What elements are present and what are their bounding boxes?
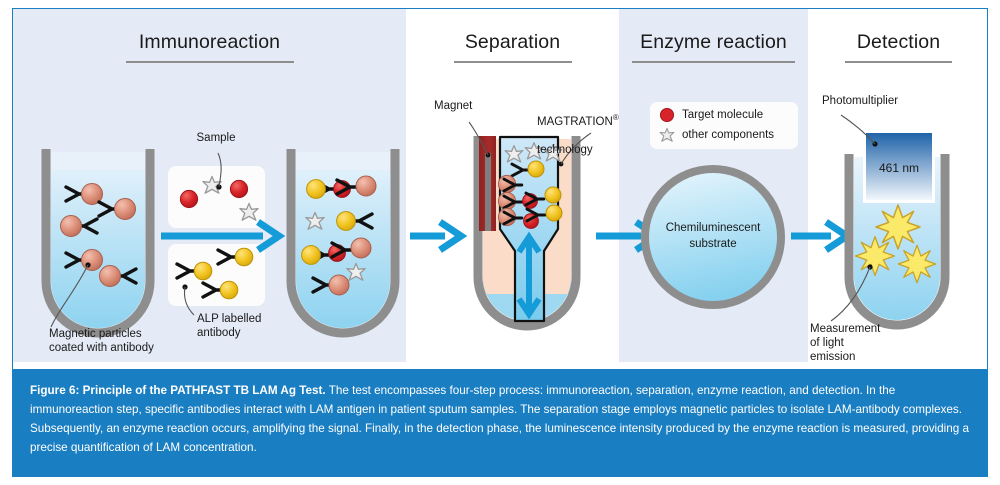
tube-2 bbox=[291, 149, 395, 333]
caption-gap bbox=[13, 362, 987, 369]
legend-item-other-components: other components bbox=[659, 127, 774, 143]
alp-box bbox=[168, 244, 265, 315]
registered-trademark-icon: ® bbox=[613, 113, 619, 122]
label-chemiluminescent-substrate: Chemiluminescent substrate bbox=[653, 221, 773, 252]
detection-tube bbox=[831, 115, 945, 325]
grey-star-icon bbox=[659, 127, 675, 143]
arrow-2 bbox=[410, 222, 461, 250]
label-wavelength: 461 nm bbox=[869, 161, 929, 176]
label-magtration: MAGTRATION® technology bbox=[537, 99, 637, 157]
legend-item-target-molecule: Target molecule bbox=[659, 107, 763, 123]
legend-label-other: other components bbox=[682, 128, 774, 142]
label-magtration-text: MAGTRATION bbox=[537, 116, 613, 128]
label-magnetic-particles: Magnetic particles coated with antibody bbox=[49, 327, 219, 355]
label-measurement: Measurement of light emission bbox=[810, 322, 920, 364]
figure-caption: Figure 6: Principle of the PATHFAST TB L… bbox=[13, 369, 987, 476]
tube-1 bbox=[46, 149, 150, 333]
red-circle-icon bbox=[659, 107, 675, 123]
label-magnet: Magnet bbox=[434, 99, 494, 113]
caption-bold-lead: Figure 6: Principle of the PATHFAST TB L… bbox=[30, 384, 326, 397]
figure-container: Immunoreaction Separation Enzyme reactio… bbox=[12, 8, 988, 477]
sample-box bbox=[168, 153, 265, 228]
diagram-artwork bbox=[13, 9, 988, 371]
label-magtration-line2: technology bbox=[537, 144, 593, 156]
legend-box: Target molecule other components bbox=[650, 102, 798, 149]
legend-label-target: Target molecule bbox=[682, 108, 763, 122]
arrow-4 bbox=[791, 222, 847, 250]
label-photomultiplier: Photomultiplier bbox=[822, 94, 942, 108]
label-sample: Sample bbox=[176, 131, 256, 145]
